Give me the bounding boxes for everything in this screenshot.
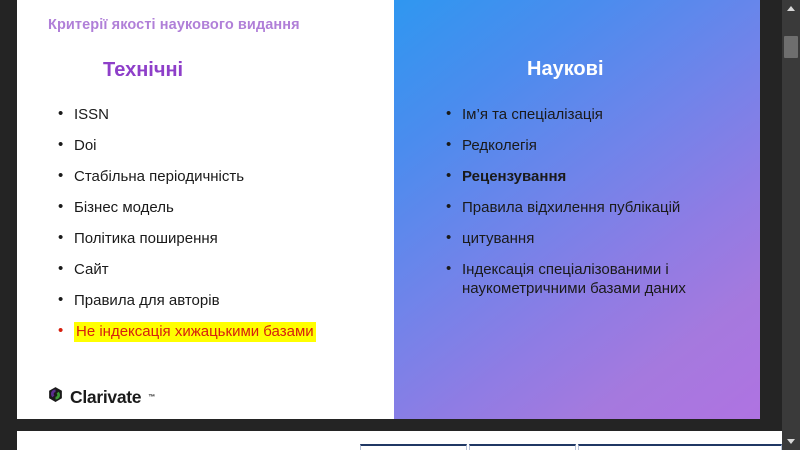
viewer-left-rail — [0, 0, 17, 450]
list-item-emphasized: Рецензування — [445, 167, 755, 186]
list-item: цитування — [445, 229, 755, 248]
list-item-label: Ім’я та спеціалізація — [462, 106, 603, 123]
slide-filmstrip[interactable] — [17, 431, 782, 450]
column-heading-scientific: Наукові — [527, 58, 604, 81]
list-item: ISSN — [57, 105, 387, 124]
list-item-label: Не індексація хижацькими базами — [74, 322, 316, 342]
list-item-label: ISSN — [74, 106, 109, 123]
viewer-divider-band — [17, 419, 800, 431]
triangle-up-icon — [787, 6, 795, 11]
column-heading-technical: Технічні — [103, 59, 183, 82]
clarivate-wordmark: Clarivate — [70, 387, 141, 408]
slide-thumbnail[interactable] — [360, 444, 467, 450]
slide-thumbnail[interactable] — [469, 444, 576, 450]
list-item-label: цитування — [462, 230, 534, 247]
scrollbar-thumb[interactable] — [784, 36, 798, 58]
list-item: Індексація спеціалізованими і наукометри… — [445, 260, 755, 298]
list-item-label: Правила відхилення публікацій — [462, 199, 680, 216]
list-item-label: Сайт — [74, 261, 109, 278]
list-item-label: Редколегія — [462, 137, 537, 154]
slide-title: Критерії якості наукового видання — [48, 17, 300, 33]
list-item: Стабільна періодичність — [57, 167, 387, 186]
list-item-label: Doi — [74, 137, 97, 154]
list-item: Бізнес модель — [57, 198, 387, 217]
clarivate-logo: Clarivate ™ — [47, 386, 155, 408]
triangle-down-icon — [787, 439, 795, 444]
bullet-list-technical: ISSN Doi Стабільна періодичність Бізнес … — [57, 105, 387, 353]
list-item-label: Рецензування — [462, 168, 566, 185]
list-item-label: Правила для авторів — [74, 292, 220, 309]
list-item: Ім’я та спеціалізація — [445, 105, 755, 124]
viewer-right-gutter — [760, 0, 782, 419]
list-item: Правила для авторів — [57, 291, 387, 310]
bullet-list-scientific: Ім’я та спеціалізація Редколегія Рецензу… — [445, 105, 755, 310]
list-item: Правила відхилення публікацій — [445, 198, 755, 217]
vertical-scrollbar[interactable] — [782, 0, 800, 450]
list-item: Сайт — [57, 260, 387, 279]
scroll-down-arrow-icon[interactable] — [782, 433, 800, 450]
presentation-viewer: Критерії якості наукового видання Техніч… — [0, 0, 800, 450]
list-item-label: Стабільна періодичність — [74, 168, 244, 185]
list-item: Редколегія — [445, 136, 755, 155]
slide-thumbnail[interactable] — [578, 444, 782, 450]
list-item-highlighted: Не індексація хижацькими базами — [57, 322, 387, 341]
scroll-up-arrow-icon[interactable] — [782, 0, 800, 17]
list-item-label: Індексація спеціалізованими і наукометри… — [462, 261, 686, 297]
clarivate-mark-icon — [47, 386, 64, 408]
clarivate-trademark-symbol: ™ — [148, 394, 155, 401]
slide-canvas[interactable]: Критерії якості наукового видання Техніч… — [17, 0, 777, 419]
list-item-label: Бізнес модель — [74, 199, 174, 216]
list-item-label: Політика поширення — [74, 230, 218, 247]
list-item: Політика поширення — [57, 229, 387, 248]
list-item: Doi — [57, 136, 387, 155]
